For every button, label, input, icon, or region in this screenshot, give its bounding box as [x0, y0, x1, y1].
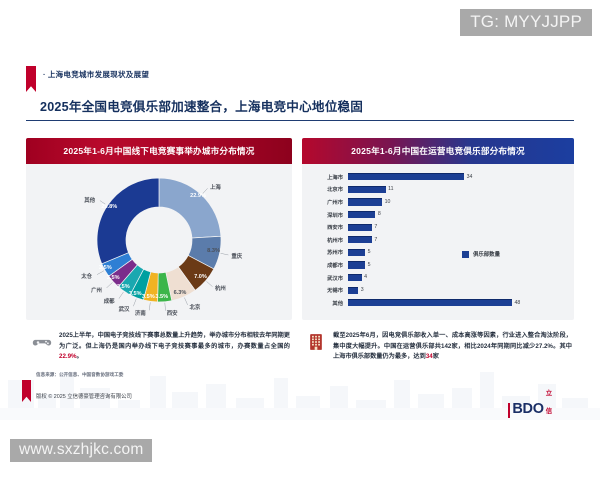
source-line: 信息来源：公开信息、中国音数协游戏工委	[36, 372, 123, 378]
callout-left-text: 2025上半年，中国电子竞技线下赛事总数量上升趋势，举办城市分布相较去年同期更为…	[59, 331, 290, 363]
bar-row: 广州市10	[302, 197, 382, 207]
bar-value-label: 7	[374, 224, 377, 230]
donut-leader-line	[133, 299, 136, 306]
bar-track: 5	[348, 249, 365, 256]
donut-category-label: 济南	[135, 309, 146, 317]
donut-leader-line	[206, 281, 212, 286]
bar-category-label: 无锡市	[302, 286, 348, 294]
bar-track: 8	[348, 211, 375, 218]
bar-track: 10	[348, 198, 382, 205]
bar-row: 成都市5	[302, 260, 365, 270]
bar-value-label: 10	[385, 199, 391, 205]
donut-value-label: 6.3%	[174, 290, 187, 296]
bar-category-label: 深圳市	[302, 211, 348, 219]
donut-leader-line	[184, 298, 187, 305]
chart-panel-right: 2025年1-6月中国在运营电竞俱乐部分布情况 上海市34北京市11广州市10深…	[302, 138, 574, 320]
donut-category-label: 上海	[210, 183, 221, 191]
callout-left-highlight: 22.9%	[59, 353, 77, 360]
bar-fill	[348, 261, 365, 268]
donut-category-label: 广州	[91, 286, 102, 294]
bar-category-label: 武汉市	[302, 274, 348, 282]
bar-fill	[348, 249, 365, 256]
bar-value-label: 5	[368, 262, 371, 268]
bar-value-label: 48	[515, 300, 521, 306]
bar-value-label: 3	[361, 287, 364, 293]
kicker-bullet: ·	[43, 70, 46, 79]
bar-fill	[348, 236, 372, 243]
callout-left-part2: 。	[77, 353, 83, 360]
donut-leader-line	[107, 282, 113, 287]
bar-track: 48	[348, 299, 512, 306]
logo-text: BDO	[512, 401, 543, 417]
bar-category-label: 成都市	[302, 261, 348, 269]
donut-category-label: 武汉	[119, 305, 130, 313]
logo-cn-bottom: 信	[546, 408, 552, 415]
callout-right-highlight: 34	[426, 353, 433, 360]
bar-value-label: 4	[364, 274, 367, 280]
callout-left: 2025上半年，中国电子竞技线下赛事总数量上升趋势，举办城市分布相较去年同期更为…	[32, 331, 290, 363]
donut-category-label: 北京	[189, 303, 200, 311]
panel-body-right: 上海市34北京市11广州市10深圳市8西安市7杭州市7苏州市5成都市5武汉市4无…	[302, 164, 574, 320]
donut-category-label: 西安	[167, 309, 178, 317]
bar-track: 5	[348, 261, 365, 268]
watermark-bottom-left: www.sxzhjkc.com	[10, 439, 152, 462]
bar-row: 其他48	[302, 298, 512, 308]
bar-fill	[348, 173, 464, 180]
bar-category-label: 苏州市	[302, 248, 348, 256]
bar-category-label: 广州市	[302, 198, 348, 206]
panel-title-left: 2025年1-6月中国线下电竞赛事举办城市分布情况	[63, 145, 254, 157]
donut-leader-line	[97, 271, 104, 275]
donut-leader-line	[119, 292, 124, 299]
donut-category-label: 成都	[104, 297, 115, 305]
donut-category-label: 杭州	[215, 284, 226, 292]
donut-value-label: 3.5%	[107, 275, 120, 281]
bar-category-label: 其他	[302, 299, 348, 307]
bar-row: 无锡市3	[302, 285, 358, 295]
callout-right-part2: 家	[433, 353, 439, 360]
donut-value-label: 3.5%	[142, 294, 155, 300]
donut-leader-line	[149, 302, 150, 310]
bar-value-label: 8	[378, 211, 381, 217]
bar-row: 武汉市4	[302, 273, 362, 283]
legend-swatch-icon	[462, 251, 469, 258]
bar-track: 34	[348, 173, 464, 180]
donut-leader-line	[165, 303, 166, 311]
logo-cn-top: 立	[546, 390, 552, 397]
bar-row: 北京市11	[302, 185, 386, 195]
donut-value-label: 3.5%	[129, 291, 142, 297]
callout-right: 截至2025年6月，因电竞俱乐部收入单一、成本高涨等因素，行业进入整合淘汰阶段，…	[306, 331, 572, 363]
bar-fill	[348, 186, 386, 193]
donut-value-label: 3.5%	[99, 265, 112, 271]
bar-value-label: 34	[467, 174, 473, 180]
bar-fill	[348, 224, 372, 231]
bar-category-label: 上海市	[302, 173, 348, 181]
callout-right-text: 截至2025年6月，因电竞俱乐部收入单一、成本高涨等因素，行业进入整合淘汰阶段，…	[333, 331, 572, 363]
bar-value-label: 7	[374, 237, 377, 243]
bar-track: 7	[348, 236, 372, 243]
donut-category-label: 太仓	[81, 272, 92, 280]
donut-value-label: 3.5%	[117, 284, 130, 290]
bar-fill	[348, 287, 358, 294]
section-kicker: ·上海电竞城市发展现状及展望	[26, 66, 149, 92]
bar-row: 杭州市7	[302, 235, 372, 245]
bar-fill	[348, 299, 512, 306]
bar-track: 4	[348, 274, 362, 281]
bar-row: 苏州市5	[302, 248, 365, 258]
bar-track: 3	[348, 287, 358, 294]
panel-header-right: 2025年1-6月中国在运营电竞俱乐部分布情况	[302, 138, 574, 164]
red-flag-icon	[26, 66, 36, 92]
chart-panel-left: 2025年1-6月中国线下电竞赛事举办城市分布情况 22.9%上海8.3%重庆7…	[26, 138, 292, 320]
donut-value-label: 8.3%	[207, 248, 220, 254]
donut-slice	[97, 178, 159, 264]
bdo-logo: BDO 立 信	[508, 382, 552, 418]
donut-leader-line	[221, 253, 229, 255]
bar-category-label: 西安市	[302, 223, 348, 231]
bar-chart-legend: 俱乐部数量	[462, 250, 500, 258]
bar-fill	[348, 274, 362, 281]
bar-value-label: 11	[388, 186, 393, 192]
logo-cn-chars: 立 信	[546, 382, 552, 418]
bar-track: 7	[348, 224, 372, 231]
donut-value-label: 3.5%	[155, 294, 168, 300]
slide-canvas: ·上海电竞城市发展现状及展望 2025年全国电竞俱乐部加速整合，上海电竞中心地位…	[0, 0, 600, 420]
donut-value-label: 7.0%	[194, 274, 207, 280]
bar-row: 上海市34	[302, 172, 464, 182]
bar-fill	[348, 211, 375, 218]
kicker-label: 上海电竞城市发展现状及展望	[48, 70, 149, 79]
building-icon	[306, 332, 326, 352]
bar-chart: 上海市34北京市11广州市10深圳市8西安市7杭州市7苏州市5成都市5武汉市4无…	[302, 166, 574, 320]
watermark-top-right: TG: MYYJJPP	[460, 9, 592, 36]
bar-row: 深圳市8	[302, 210, 375, 220]
bar-category-label: 杭州市	[302, 236, 348, 244]
donut-chart: 22.9%上海8.3%重庆7.0%杭州6.3%北京3.5%西安3.5%济南3.5…	[26, 164, 292, 320]
donut-category-label: 其他	[84, 196, 95, 204]
panel-body-left: 22.9%上海8.3%重庆7.0%杭州6.3%北京3.5%西安3.5%济南3.5…	[26, 164, 292, 320]
bar-fill	[348, 198, 382, 205]
logo-accent-bar	[508, 403, 510, 418]
copyright-line: 版权 © 2025 立信德豪管理咨询有限公司	[36, 392, 132, 400]
panel-title-right: 2025年1-6月中国在运营电竞俱乐部分布情况	[351, 145, 525, 157]
callout-left-part1: 2025上半年，中国电子竞技线下赛事总数量上升趋势，举办城市分布相较去年同期更为…	[59, 332, 290, 350]
donut-value-label: 22.9%	[190, 193, 206, 199]
panel-header-left: 2025年1-6月中国线下电竞赛事举办城市分布情况	[26, 138, 292, 164]
bar-category-label: 北京市	[302, 185, 348, 193]
logo-wordmark: BDO	[512, 400, 543, 418]
bar-row: 西安市7	[302, 222, 372, 232]
headline-divider	[26, 120, 574, 121]
donut-value-label: 29.8%	[101, 204, 117, 210]
donut-category-label: 重庆	[231, 252, 242, 260]
bar-track: 11	[348, 186, 386, 193]
legend-label: 俱乐部数量	[473, 250, 500, 258]
callout-right-part1: 截至2025年6月，因电竞俱乐部收入单一、成本高涨等因素，行业进入整合淘汰阶段，…	[333, 332, 572, 360]
gamepad-icon	[32, 332, 52, 352]
bar-value-label: 5	[368, 249, 371, 255]
kicker-text: ·上海电竞城市发展现状及展望	[43, 66, 149, 80]
page-title: 2025年全国电竞俱乐部加速整合，上海电竞中心地位稳固	[40, 96, 363, 115]
